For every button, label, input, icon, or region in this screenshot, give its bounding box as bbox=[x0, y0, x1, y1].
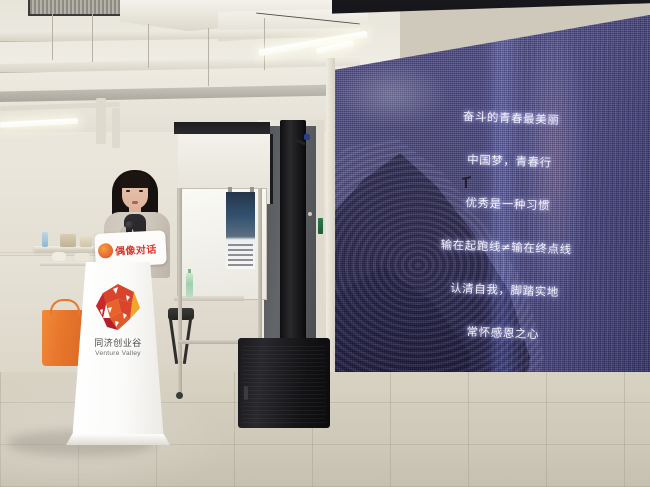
venture-valley-polyhedron-logo bbox=[92, 282, 144, 332]
shelf-bottle-blue bbox=[42, 232, 48, 247]
door-lock-icon bbox=[308, 212, 312, 216]
led-slogan-line-4: 输在起跑线≠输在终点线 bbox=[440, 236, 572, 257]
led-slogan-line-1: 奋斗的青春最美丽 bbox=[462, 108, 559, 128]
tote-bag-handle bbox=[50, 299, 80, 315]
shelf-item-white bbox=[52, 252, 66, 261]
presenter-mouth bbox=[132, 201, 138, 204]
hanger-rod bbox=[208, 28, 209, 86]
poster-clip bbox=[228, 187, 232, 192]
lectern: 同济创业谷 Venture Valley bbox=[72, 262, 164, 442]
mic-flag-text: 偶像对话 bbox=[115, 240, 157, 257]
presenter-fringe bbox=[119, 172, 151, 188]
hanger-rod bbox=[92, 14, 93, 62]
water-bottle bbox=[186, 273, 193, 297]
speaker-tower bbox=[280, 120, 306, 352]
poster-text-lines bbox=[228, 242, 253, 266]
podium-branding: 同济创业谷 Venture Valley bbox=[72, 336, 164, 357]
shelf-box bbox=[60, 234, 76, 247]
hanger-rod bbox=[264, 18, 265, 70]
shelf-box-2 bbox=[80, 236, 92, 247]
microphone-head-icon bbox=[125, 221, 134, 230]
whiteboard-caster bbox=[176, 392, 183, 399]
subwoofer-cabinet bbox=[238, 338, 330, 428]
sun-badge-icon bbox=[98, 242, 114, 258]
presenter-eye-right bbox=[139, 190, 143, 192]
projection-screen-roller bbox=[174, 122, 270, 134]
podium-brand-cn: 同济创业谷 bbox=[72, 336, 164, 349]
ceiling-pipe-3 bbox=[112, 108, 120, 148]
poster-clip bbox=[250, 187, 254, 192]
event-photo-scene: 奋斗的青春最美丽 中国梦，青春行 优秀是一种习惯 输在起跑线≠输在终点线 认清自… bbox=[0, 0, 650, 487]
podium-brand-en: Venture Valley bbox=[72, 350, 164, 357]
orange-tote-bag bbox=[42, 310, 84, 366]
presenter-eye-left bbox=[126, 190, 130, 192]
led-slogan-line-2: 中国梦，青春行 bbox=[467, 151, 552, 170]
shelf-item-white-2 bbox=[74, 253, 90, 261]
speaker-mount-knob bbox=[304, 134, 310, 140]
ceiling-pipe-2 bbox=[96, 98, 106, 144]
led-slogan-line-5: 认清自我，脚踏实地 bbox=[450, 280, 559, 300]
subwoofer-grille bbox=[242, 343, 326, 423]
lectern-base bbox=[66, 434, 170, 445]
led-slogan-line-6: 常怀感恩之心 bbox=[466, 324, 539, 343]
hanger-rod bbox=[148, 24, 149, 68]
whiteboard-marker-tray bbox=[174, 296, 244, 301]
led-slogan-line-3: 优秀是一种习惯 bbox=[465, 194, 550, 213]
hanger-rod bbox=[52, 10, 53, 60]
led-slogan-list: 奋斗的青春最美丽 中国梦，青春行 优秀是一种习惯 输在起跑线≠输在终点线 认清自… bbox=[388, 106, 627, 346]
fire-extinguisher bbox=[318, 218, 323, 234]
whiteboard-poster bbox=[226, 192, 255, 269]
subwoofer-handle bbox=[244, 386, 248, 400]
